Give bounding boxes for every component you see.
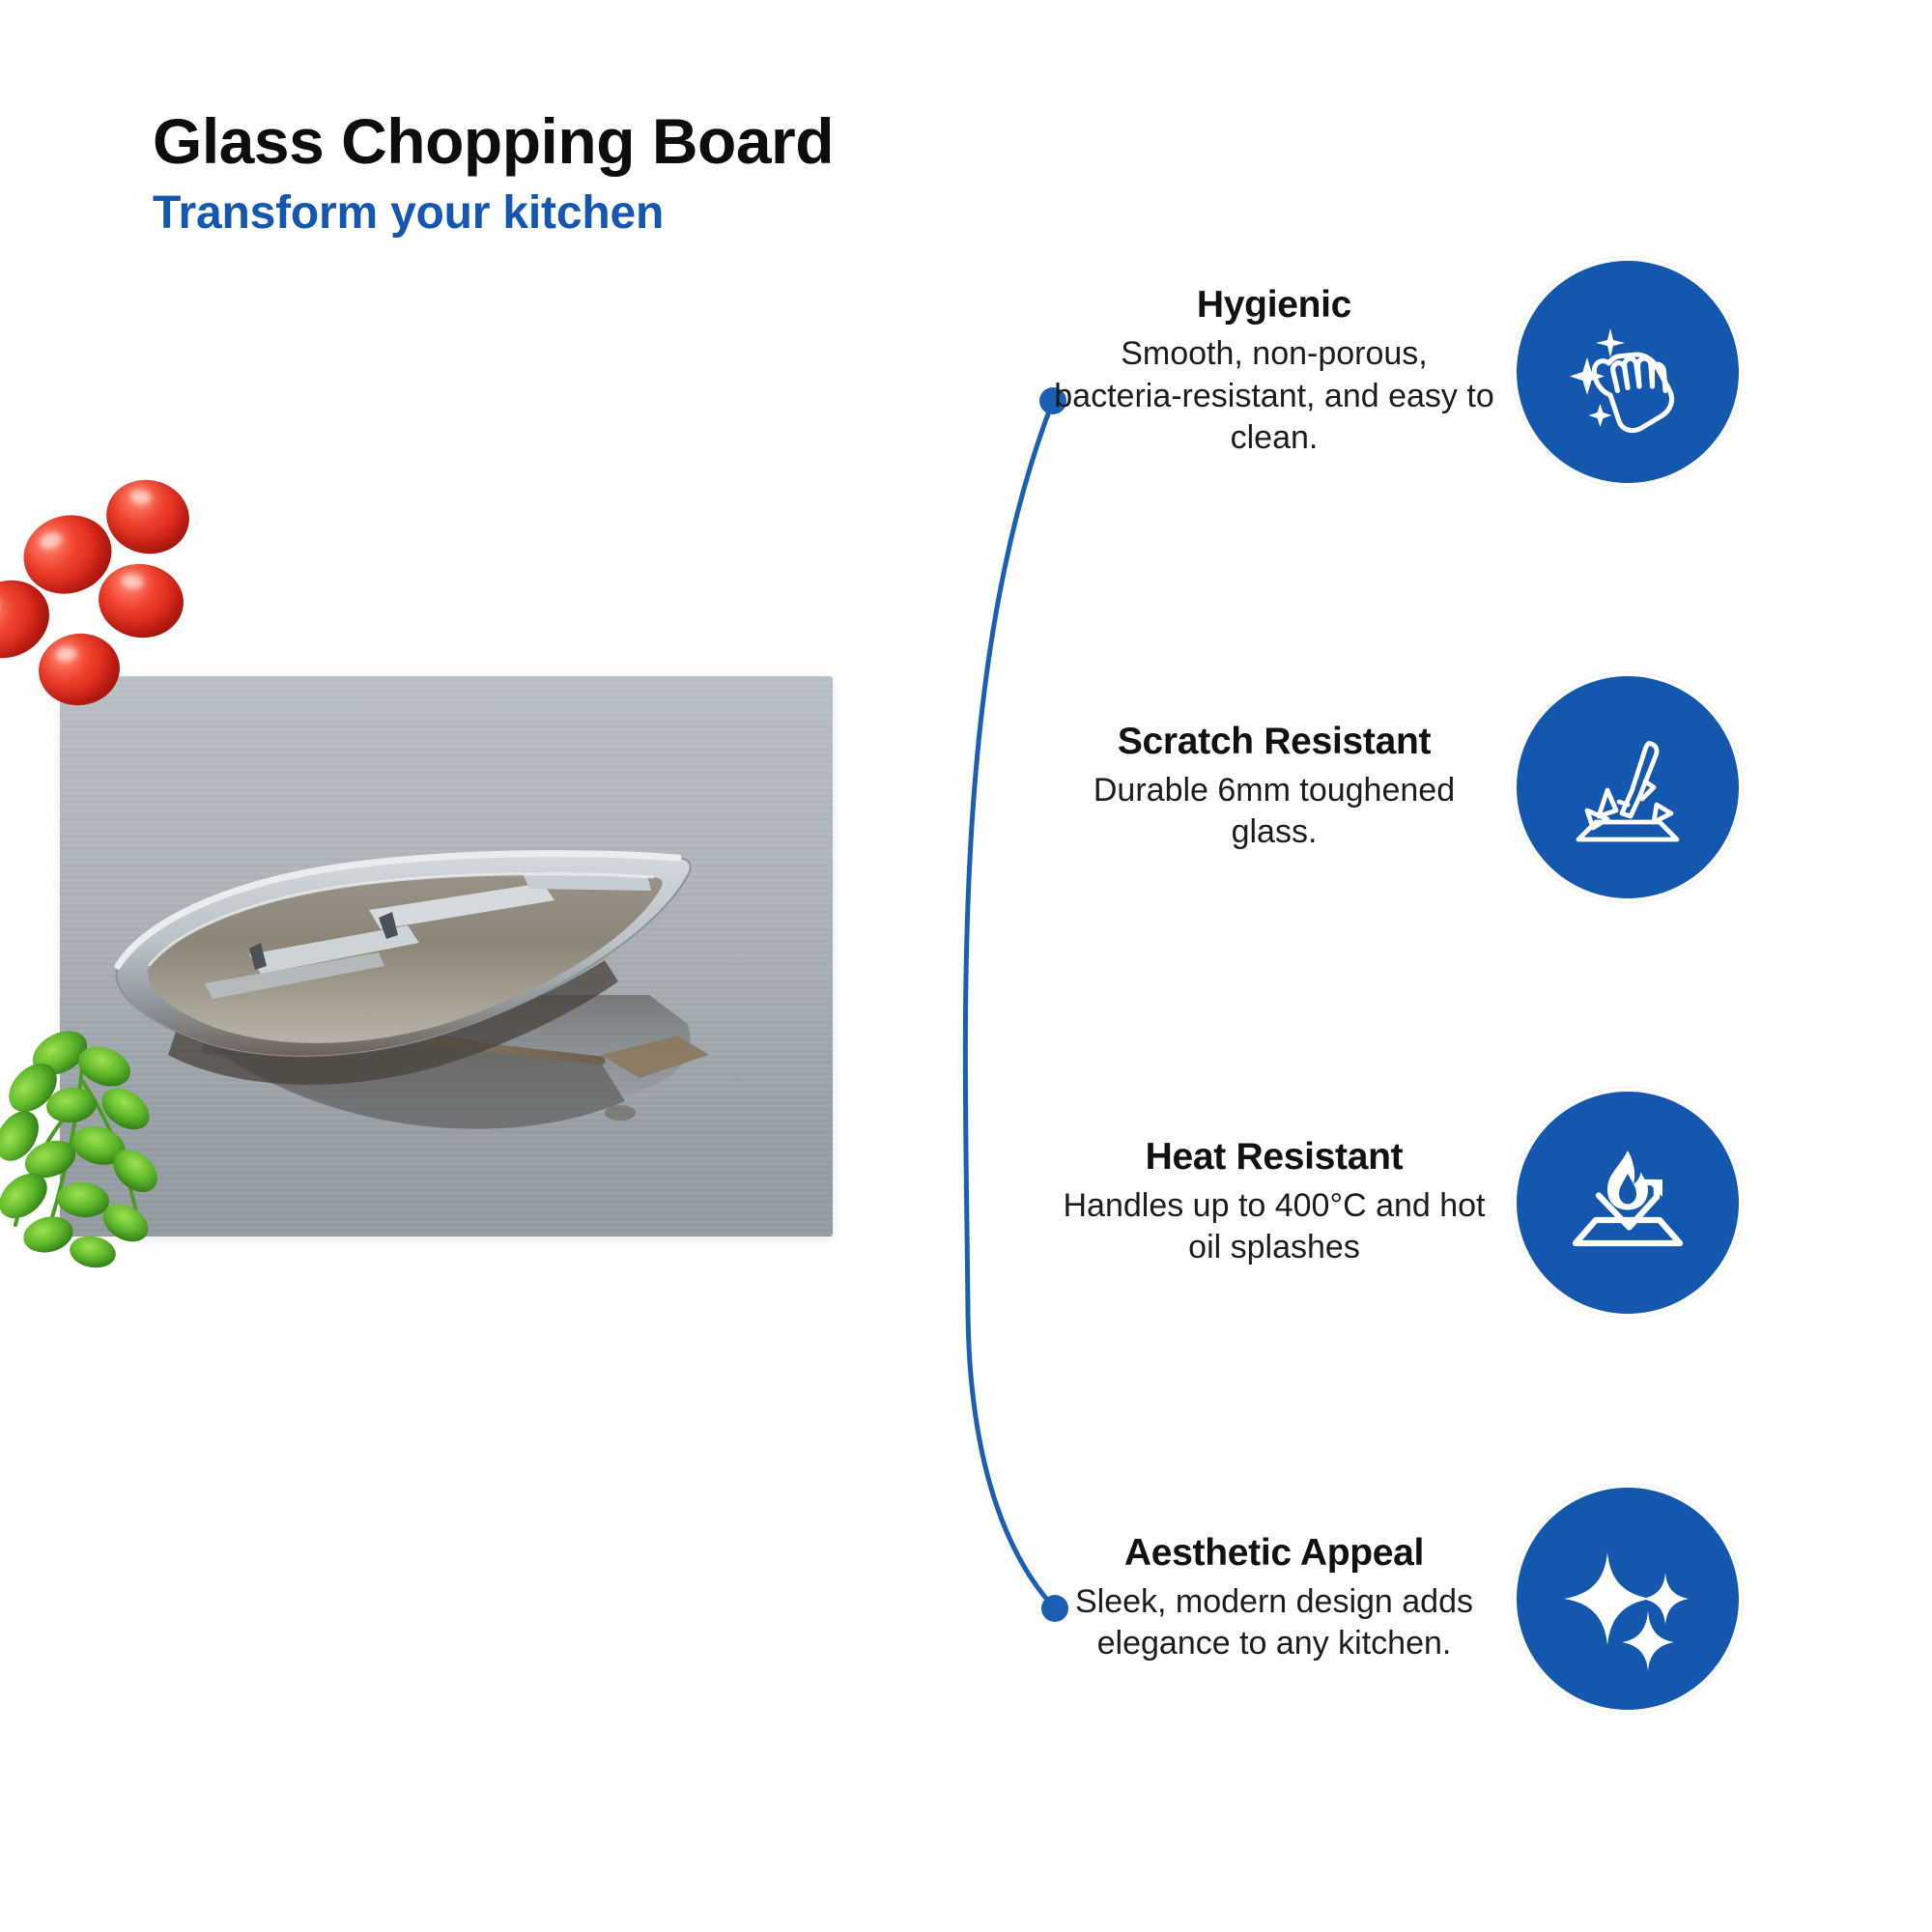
knife-on-surface-icon bbox=[1517, 676, 1739, 898]
feature-description: Handles up to 400°C and hot oil splashes bbox=[1053, 1185, 1495, 1269]
feature-text-block: Hygienic Smooth, non-porous, bacteria-re… bbox=[1053, 284, 1517, 459]
feature-description: Durable 6mm toughened glass. bbox=[1053, 770, 1495, 854]
feature-item-hygienic: Hygienic Smooth, non-porous, bacteria-re… bbox=[1053, 261, 1787, 483]
page-title: Glass Chopping Board bbox=[153, 108, 1119, 175]
feature-title: Heat Resistant bbox=[1053, 1136, 1495, 1179]
feature-description: Sleek, modern design adds elegance to an… bbox=[1053, 1581, 1495, 1665]
feature-description: Smooth, non-porous, bacteria-resistant, … bbox=[1053, 333, 1495, 460]
flame-deflect-surface-icon bbox=[1517, 1092, 1739, 1314]
header-block: Glass Chopping Board Transform your kitc… bbox=[153, 108, 1119, 240]
hand-wipe-sparkle-icon bbox=[1517, 261, 1739, 483]
feature-text-block: Heat Resistant Handles up to 400°C and h… bbox=[1053, 1136, 1517, 1269]
feature-item-aesthetic-appeal: Aesthetic Appeal Sleek, modern design ad… bbox=[1053, 1488, 1787, 1710]
feature-item-heat-resistant: Heat Resistant Handles up to 400°C and h… bbox=[1053, 1092, 1787, 1314]
page-subtitle: Transform your kitchen bbox=[153, 188, 1119, 240]
feature-item-scratch-resistant: Scratch Resistant Durable 6mm toughened … bbox=[1053, 676, 1787, 898]
feature-title: Hygienic bbox=[1053, 284, 1495, 327]
feature-title: Scratch Resistant bbox=[1053, 721, 1495, 764]
sparkles-icon bbox=[1517, 1488, 1739, 1710]
feature-text-block: Scratch Resistant Durable 6mm toughened … bbox=[1053, 721, 1517, 854]
feature-title: Aesthetic Appeal bbox=[1053, 1532, 1495, 1576]
feature-text-block: Aesthetic Appeal Sleek, modern design ad… bbox=[1053, 1532, 1517, 1665]
parsley-sprig bbox=[0, 1024, 193, 1275]
cherry-tomato bbox=[94, 558, 188, 643]
connector-curve bbox=[985, 367, 1179, 1662]
cherry-tomato bbox=[99, 472, 196, 561]
